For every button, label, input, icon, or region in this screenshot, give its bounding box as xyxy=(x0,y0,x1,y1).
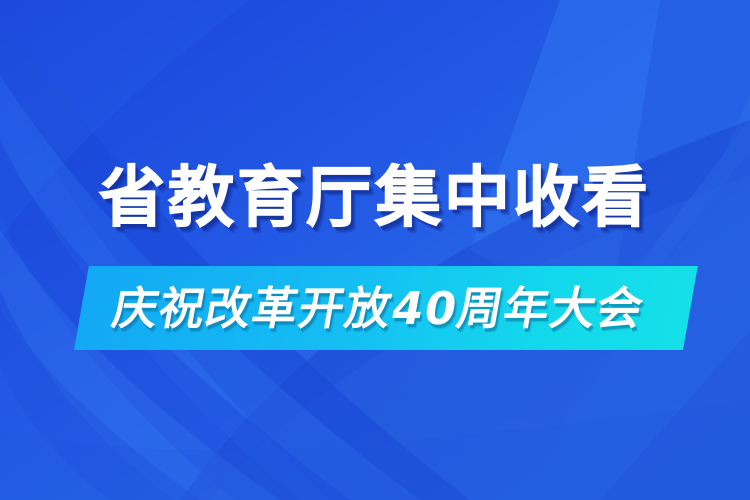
poster-subheadline: 庆祝改革开放40周年大会 xyxy=(109,286,648,331)
poster-banner: 省教育厅集中收看 庆祝改革开放40周年大会 xyxy=(0,0,750,500)
subheadline-banner: 庆祝改革开放40周年大会 xyxy=(0,266,750,352)
background-base xyxy=(0,0,750,500)
background-shapes-svg xyxy=(0,0,750,500)
background-decoration xyxy=(0,0,750,500)
banner-text-row: 庆祝改革开放40周年大会 xyxy=(74,266,683,350)
headline-row: 省教育厅集中收看 xyxy=(0,152,750,244)
poster-headline: 省教育厅集中收看 xyxy=(99,165,651,231)
facet-right-dark xyxy=(612,0,750,300)
wave-band-1 xyxy=(0,10,470,500)
facet-right-corner xyxy=(600,330,750,500)
wave-bottom xyxy=(0,400,750,500)
